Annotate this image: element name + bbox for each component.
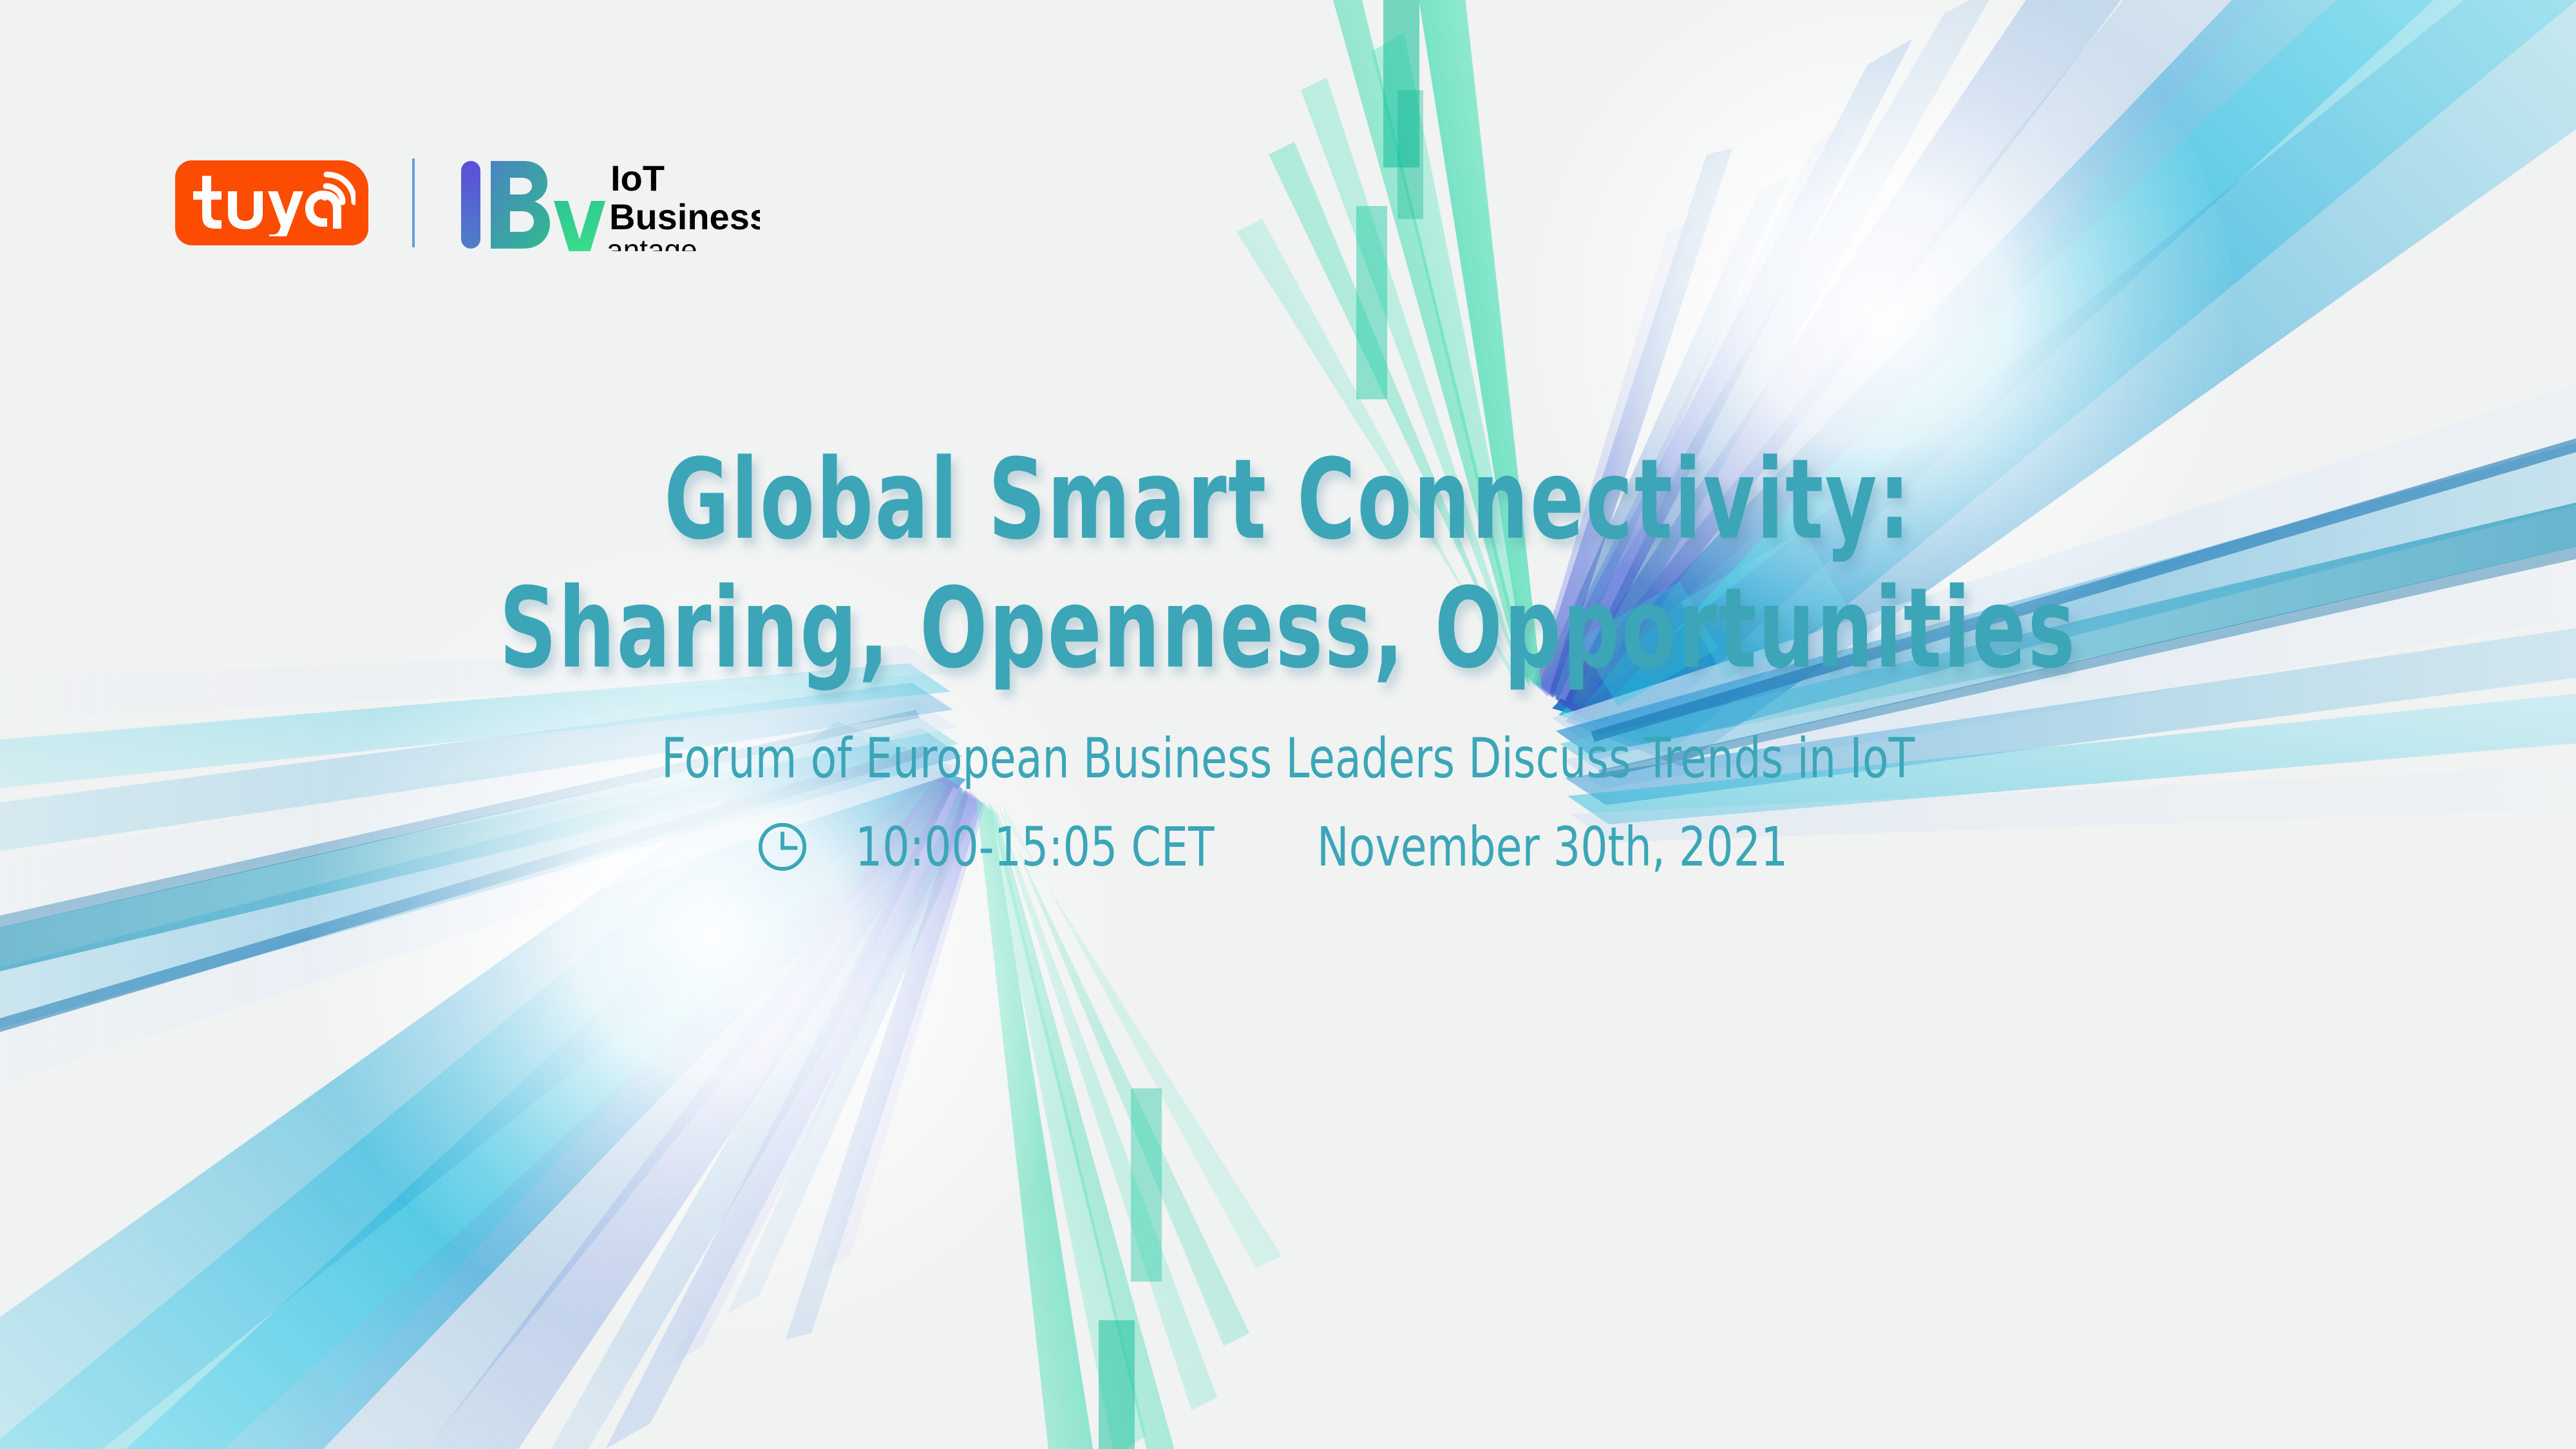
page-subtitle: Forum of European Business Leaders Discu…	[180, 726, 2396, 791]
ibv-line-1: IoT	[611, 158, 665, 198]
ibv-logo[interactable]: IoT Business antage	[457, 155, 760, 251]
event-banner: IoT Business antage Global Smart Connect…	[0, 0, 2576, 1449]
page-title-line-2: Sharing, Openness, Opportunities	[258, 573, 2318, 684]
ibv-line-2: Business	[609, 196, 760, 237]
tuya-wordmark	[188, 169, 355, 236]
hero-text-block: Global Smart Connectivity: Sharing, Open…	[0, 444, 2576, 878]
event-date: November 30th, 2021	[1317, 815, 1788, 878]
event-meta-row: 10:00-15:05 CET November 30th, 2021	[0, 815, 2576, 878]
tuya-logo[interactable]	[175, 160, 368, 245]
logo-row: IoT Business antage	[175, 155, 760, 251]
event-time: 10:00-15:05 CET	[855, 815, 1214, 878]
clock-icon	[756, 820, 809, 873]
logo-divider	[412, 158, 415, 247]
ibv-line-3: antage	[607, 233, 697, 251]
page-title-line-1: Global Smart Connectivity:	[258, 444, 2318, 555]
